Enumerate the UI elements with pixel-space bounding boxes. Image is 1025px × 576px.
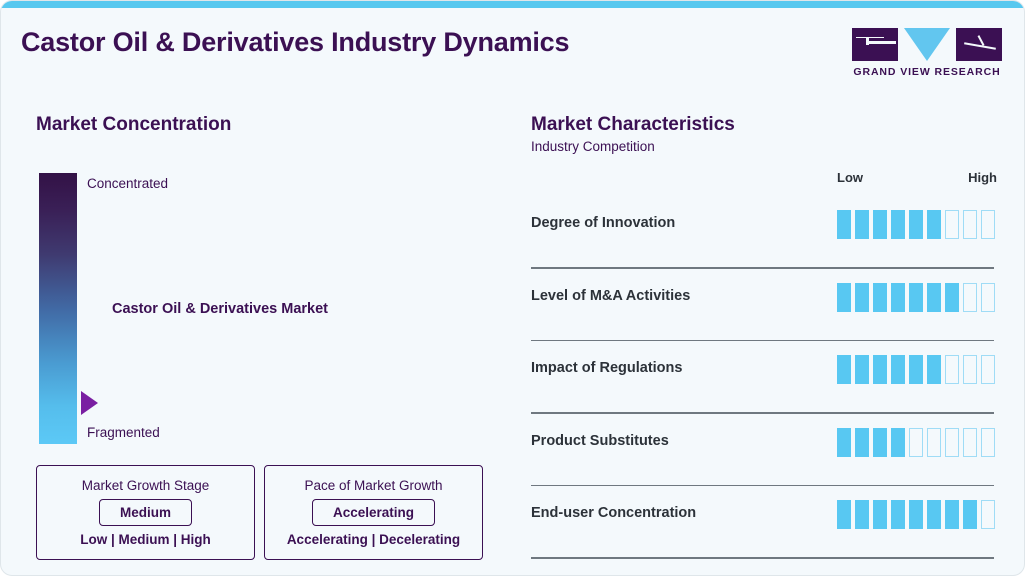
rating-bar-filled bbox=[837, 283, 851, 312]
rating-bar-empty bbox=[963, 355, 977, 384]
rating-bar-empty bbox=[909, 428, 923, 457]
rating-bar-filled bbox=[855, 283, 869, 312]
rating-bar-filled bbox=[873, 283, 887, 312]
scale-low-label: Low bbox=[837, 170, 863, 185]
growth-cards: Market Growth Stage Medium Low | Medium … bbox=[36, 465, 483, 560]
rating-bars bbox=[837, 428, 998, 457]
card-selected-value: Accelerating bbox=[312, 499, 435, 526]
rating-bar-filled bbox=[945, 500, 959, 529]
characteristic-row: Level of M&A Activities bbox=[511, 269, 1025, 342]
characteristic-row: Product Substitutes bbox=[511, 414, 1025, 487]
rating-bar-filled bbox=[855, 210, 869, 239]
characteristics-rows: Degree of InnovationLevel of M&A Activit… bbox=[511, 196, 1025, 559]
rating-bar-empty bbox=[945, 210, 959, 239]
scale-top-label: Concentrated bbox=[87, 176, 168, 191]
market-concentration-title: Market Concentration bbox=[36, 114, 231, 136]
rating-bar-filled bbox=[837, 355, 851, 384]
rating-bar-filled bbox=[873, 355, 887, 384]
card-pace-of-market-growth: Pace of Market Growth Accelerating Accel… bbox=[264, 465, 483, 560]
concentration-gradient-scale bbox=[39, 173, 77, 444]
grand-view-research-logo: GRAND VIEW RESEARCH bbox=[852, 28, 1002, 82]
market-concentration-panel: Market Concentration Concentrated Fragme… bbox=[1, 94, 511, 576]
scale-bottom-label: Fragmented bbox=[87, 425, 160, 440]
characteristic-row: End-user Concentration bbox=[511, 486, 1025, 559]
rating-bar-filled bbox=[873, 210, 887, 239]
market-characteristics-panel: Market Characteristics Industry Competit… bbox=[511, 94, 1025, 576]
card-selected-value: Medium bbox=[99, 499, 192, 526]
scale-high-label: High bbox=[968, 170, 997, 185]
logo-right-block-icon bbox=[956, 28, 1002, 61]
rating-bar-filled bbox=[837, 500, 851, 529]
characteristic-row: Degree of Innovation bbox=[511, 196, 1025, 269]
rating-bar-filled bbox=[873, 500, 887, 529]
logo-left-block-icon bbox=[852, 28, 898, 61]
card-market-growth-stage: Market Growth Stage Medium Low | Medium … bbox=[36, 465, 255, 560]
rating-bar-empty bbox=[963, 428, 977, 457]
logo-marks bbox=[852, 28, 1002, 61]
rating-bars bbox=[837, 500, 998, 529]
logo-triangle-icon bbox=[904, 28, 950, 61]
infographic-page: Castor Oil & Derivatives Industry Dynami… bbox=[0, 0, 1025, 576]
page-header: Castor Oil & Derivatives Industry Dynami… bbox=[1, 8, 1025, 94]
rating-bar-empty bbox=[945, 355, 959, 384]
rating-bar-filled bbox=[909, 283, 923, 312]
scale-header: Low High bbox=[837, 170, 997, 185]
market-characteristics-title: Market Characteristics bbox=[531, 114, 735, 136]
logo-wordmark: GRAND VIEW RESEARCH bbox=[852, 66, 1002, 78]
card-options: Accelerating | Decelerating bbox=[287, 532, 460, 547]
rating-bar-empty bbox=[981, 355, 995, 384]
characteristic-label: End-user Concentration bbox=[531, 505, 696, 521]
rating-bar-filled bbox=[909, 355, 923, 384]
rating-bar-filled bbox=[855, 355, 869, 384]
characteristic-row: Impact of Regulations bbox=[511, 341, 1025, 414]
rating-bar-filled bbox=[891, 428, 905, 457]
rating-bar-filled bbox=[927, 355, 941, 384]
rating-bar-filled bbox=[927, 283, 941, 312]
rating-bar-filled bbox=[891, 500, 905, 529]
page-title: Castor Oil & Derivatives Industry Dynami… bbox=[21, 27, 569, 58]
rating-bar-filled bbox=[873, 428, 887, 457]
characteristic-label: Degree of Innovation bbox=[531, 215, 675, 231]
characteristic-label: Impact of Regulations bbox=[531, 360, 682, 376]
row-divider bbox=[531, 557, 994, 559]
characteristic-label: Product Substitutes bbox=[531, 433, 669, 449]
rating-bar-filled bbox=[891, 210, 905, 239]
card-options: Low | Medium | High bbox=[80, 532, 211, 547]
rating-bar-filled bbox=[855, 500, 869, 529]
rating-bar-empty bbox=[981, 283, 995, 312]
rating-bar-empty bbox=[981, 210, 995, 239]
rating-bar-filled bbox=[891, 283, 905, 312]
rating-bar-empty bbox=[927, 428, 941, 457]
rating-bar-filled bbox=[837, 428, 851, 457]
rating-bars bbox=[837, 355, 998, 384]
rating-bar-filled bbox=[945, 283, 959, 312]
rating-bar-empty bbox=[963, 283, 977, 312]
rating-bar-empty bbox=[981, 500, 995, 529]
rating-bar-filled bbox=[927, 500, 941, 529]
rating-bar-filled bbox=[891, 355, 905, 384]
card-title: Market Growth Stage bbox=[82, 478, 210, 493]
rating-bar-empty bbox=[981, 428, 995, 457]
market-position-label: Castor Oil & Derivatives Market bbox=[112, 301, 328, 317]
rating-bars bbox=[837, 283, 998, 312]
rating-bar-filled bbox=[963, 500, 977, 529]
top-accent-bar bbox=[1, 1, 1025, 8]
rating-bar-filled bbox=[855, 428, 869, 457]
market-characteristics-subtitle: Industry Competition bbox=[531, 139, 655, 154]
characteristic-label: Level of M&A Activities bbox=[531, 288, 690, 304]
rating-bar-empty bbox=[963, 210, 977, 239]
card-title: Pace of Market Growth bbox=[304, 478, 442, 493]
market-position-marker-icon bbox=[81, 391, 98, 415]
rating-bars bbox=[837, 210, 998, 239]
rating-bar-filled bbox=[909, 210, 923, 239]
rating-bar-filled bbox=[909, 500, 923, 529]
rating-bar-filled bbox=[927, 210, 941, 239]
rating-bar-filled bbox=[837, 210, 851, 239]
rating-bar-empty bbox=[945, 428, 959, 457]
